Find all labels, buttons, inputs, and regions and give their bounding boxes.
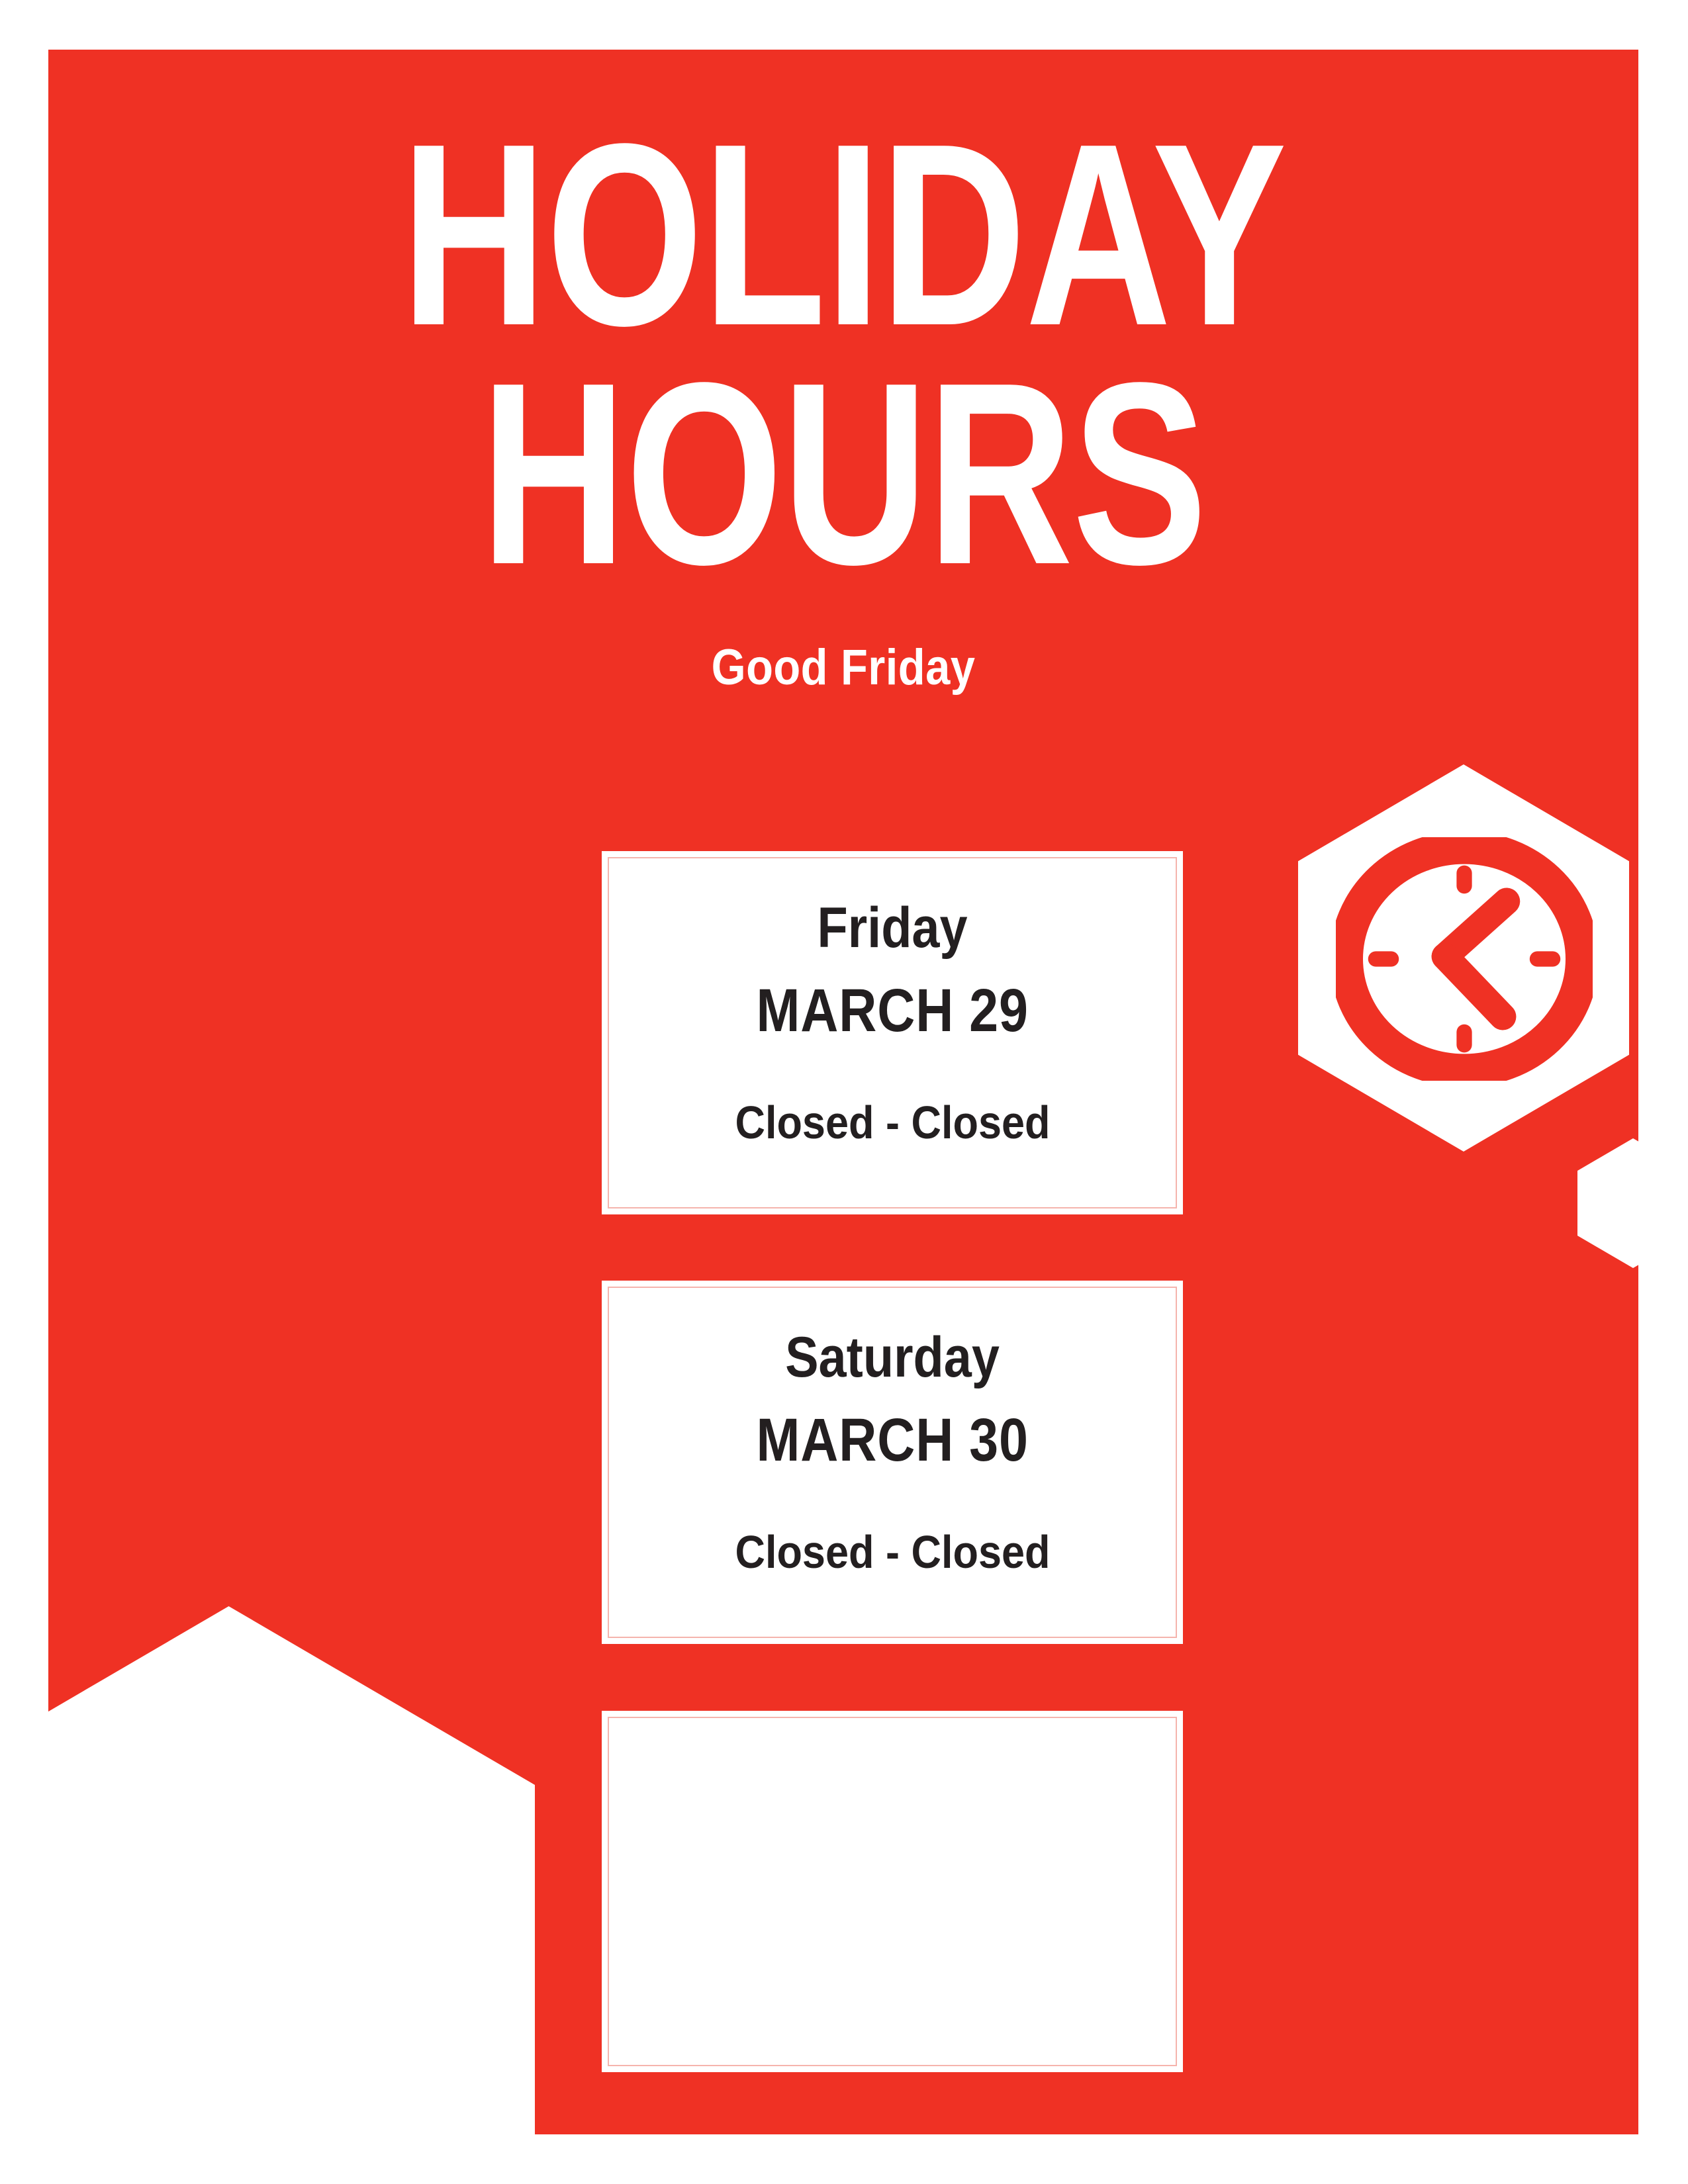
date-card-inner: Friday MARCH 29 Closed - Closed xyxy=(608,857,1177,1208)
date-card-empty xyxy=(602,1711,1183,2072)
card-date-label: MARCH 30 xyxy=(756,1410,1028,1471)
hexagon-small-accent-icon xyxy=(1577,1138,1638,1268)
card-day-label: Friday xyxy=(817,899,967,956)
date-card: Friday MARCH 29 Closed - Closed xyxy=(602,851,1183,1214)
card-date-label: MARCH 29 xyxy=(756,980,1028,1041)
poster-subtitle: Good Friday xyxy=(144,639,1543,696)
page-title: HOLIDAY HOURS xyxy=(48,116,1638,593)
clock-icon xyxy=(1336,837,1593,1081)
card-hours-label: Closed - Closed xyxy=(735,1099,1050,1146)
hexagon-bottom-accent-icon xyxy=(48,1606,535,2134)
title-line-holiday: HOLIDAY xyxy=(223,116,1464,355)
card-day-label: Saturday xyxy=(785,1329,1000,1386)
card-hours-label: Closed - Closed xyxy=(735,1529,1050,1575)
date-card: Saturday MARCH 30 Closed - Closed xyxy=(602,1281,1183,1644)
date-card-inner xyxy=(608,1717,1177,2066)
title-line-hours: HOURS xyxy=(223,355,1464,594)
date-card-inner: Saturday MARCH 30 Closed - Closed xyxy=(608,1287,1177,1638)
holiday-hours-poster: HOLIDAY HOURS Good Friday Friday MARCH 2… xyxy=(48,50,1638,2134)
